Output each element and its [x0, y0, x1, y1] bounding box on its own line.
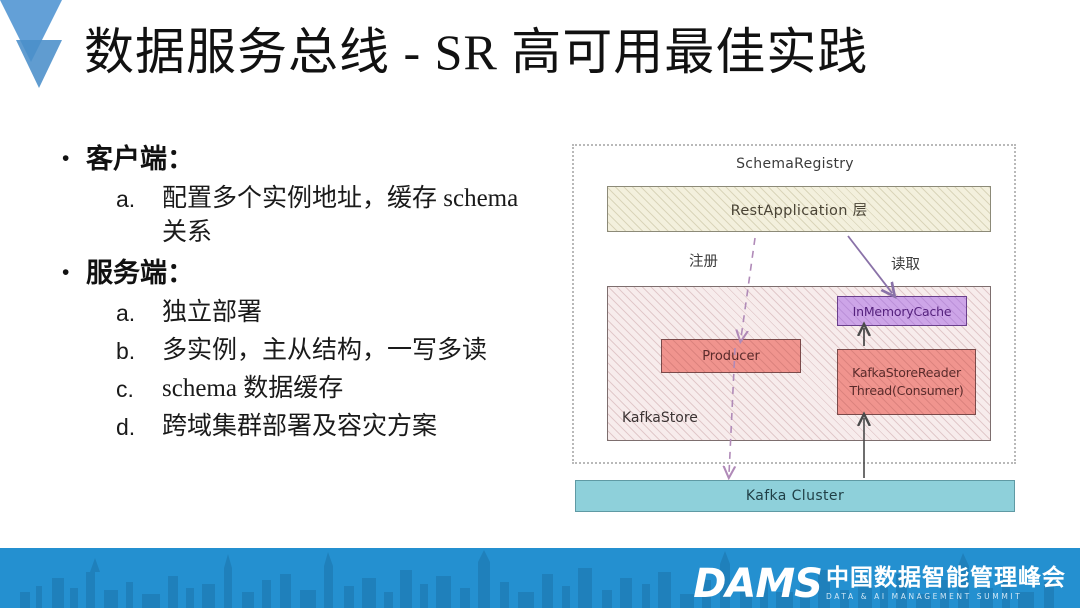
- kafka-cluster-label: Kafka Cluster: [746, 488, 844, 504]
- reader-thread-label-line2: Thread(Consumer): [850, 382, 964, 400]
- kafkastore-reader-thread-box: KafkaStoreReader Thread(Consumer): [837, 349, 976, 415]
- arrow-label-read: 读取: [891, 253, 920, 274]
- bullet-glyph: •: [52, 256, 86, 290]
- kafkastore-box: KafkaStore Producer InMemoryCache KafkaS…: [607, 286, 991, 441]
- list-item-level2: d. 跨域集群部署及容灾方案: [52, 410, 552, 444]
- reader-thread-label-line1: KafkaStoreReader: [852, 364, 961, 382]
- inmemorycache-box: InMemoryCache: [837, 296, 967, 326]
- sub-marker: a.: [52, 182, 162, 216]
- list-item-level2: a. 独立部署: [52, 296, 552, 330]
- footer-banner: DAMS 中国数据智能管理峰会 DATA & AI MANAGEMENT SUM…: [0, 548, 1080, 608]
- sub-text: 跨域集群部署及容灾方案: [162, 410, 437, 444]
- sublist-client: a. 配置多个实例地址，缓存 schema 关系: [52, 182, 552, 250]
- rest-application-box: RestApplication 层: [607, 186, 991, 232]
- sub-text: 独立部署: [162, 296, 262, 330]
- section-label-client: 客户端：: [86, 142, 194, 176]
- page-title: 数据服务总线 - SR 高可用最佳实践: [84, 24, 1024, 80]
- kafkastore-label: KafkaStore: [622, 410, 698, 426]
- arrow-label-register: 注册: [689, 250, 718, 271]
- architecture-diagram: SchemaRegistry RestApplication 层 注册 读取 K…: [565, 138, 1025, 520]
- rest-application-label: RestApplication 层: [731, 199, 868, 220]
- bullet-content-list: • 客户端： a. 配置多个实例地址，缓存 schema 关系 • 服务端： a…: [52, 142, 552, 448]
- sub-marker: d.: [52, 410, 162, 444]
- schema-registry-title: SchemaRegistry: [565, 156, 1025, 172]
- dams-chinese-block: 中国数据智能管理峰会 DATA & AI MANAGEMENT SUMMIT: [826, 566, 1066, 604]
- dams-wordmark: DAMS: [693, 564, 822, 604]
- dams-chinese-name: 中国数据智能管理峰会: [826, 566, 1066, 591]
- sub-marker: c.: [52, 372, 162, 406]
- brand-logo: [0, 0, 62, 88]
- kafka-cluster-box: Kafka Cluster: [575, 480, 1015, 512]
- bullet-glyph: •: [52, 142, 86, 176]
- sub-marker: b.: [52, 334, 162, 368]
- list-item-level1: • 客户端：: [52, 142, 552, 176]
- list-item-level2: a. 配置多个实例地址，缓存 schema 关系: [52, 182, 552, 250]
- sub-text: 配置多个实例地址，缓存 schema 关系: [162, 182, 522, 250]
- sublist-server: a. 独立部署 b. 多实例，主从结构，一写多读 c. schema 数据缓存 …: [52, 296, 552, 444]
- section-label-server: 服务端：: [86, 256, 194, 290]
- dams-brand-lockup: DAMS 中国数据智能管理峰会 DATA & AI MANAGEMENT SUM…: [693, 564, 1066, 604]
- sub-text: 多实例，主从结构，一写多读: [162, 334, 487, 368]
- sub-text: schema 数据缓存: [162, 372, 343, 406]
- dams-english-tagline: DATA & AI MANAGEMENT SUMMIT: [826, 591, 1022, 602]
- sub-marker: a.: [52, 296, 162, 330]
- list-item-level1: • 服务端：: [52, 256, 552, 290]
- list-item-level2: b. 多实例，主从结构，一写多读: [52, 334, 552, 368]
- logo-triangle-inner: [16, 40, 62, 88]
- inmemorycache-label: InMemoryCache: [853, 304, 952, 319]
- list-item-level2: c. schema 数据缓存: [52, 372, 552, 406]
- producer-box: Producer: [661, 339, 801, 373]
- producer-label: Producer: [702, 349, 760, 364]
